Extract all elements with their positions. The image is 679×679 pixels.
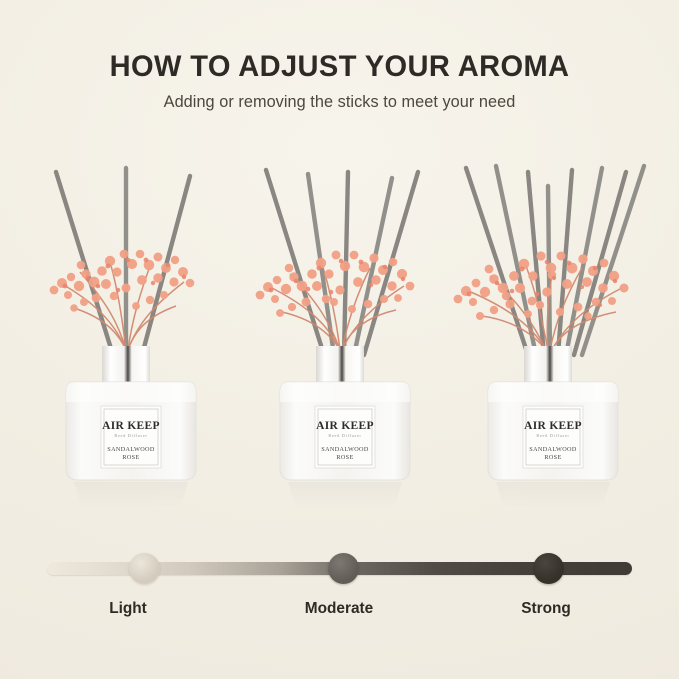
- intensity-slider[interactable]: [47, 557, 632, 579]
- label-scent-line2: ROSE: [122, 454, 139, 461]
- bottle-collar: [524, 346, 572, 384]
- light-diffuser: AIR KEEP Reed Diffuser SANDALWOOD ROSE: [18, 150, 244, 520]
- slider-knob-strong[interactable]: [533, 553, 564, 584]
- slider-knob-moderate[interactable]: [328, 553, 359, 584]
- label-brand: AIR KEEP: [316, 420, 374, 432]
- bottle-reflection: [74, 482, 188, 508]
- slider-label-strong: Strong: [418, 600, 674, 618]
- label-brand-sub: Reed Diffuser: [114, 433, 147, 438]
- bottle-collar: [316, 346, 364, 384]
- label-brand: AIR KEEP: [102, 420, 160, 432]
- dried-flowers: [50, 250, 195, 312]
- label-scent-line1: SANDALWOOD: [321, 446, 369, 453]
- page-title: HOW TO ADJUST YOUR AROMA: [5, 50, 674, 84]
- bottle-reflection: [288, 482, 402, 508]
- label-brand: AIR KEEP: [524, 420, 582, 432]
- infographic-canvas: HOW TO ADJUST YOUR AROMA Adding or remov…: [0, 0, 679, 679]
- label-scent-line2: ROSE: [544, 454, 561, 461]
- label-scent-line1: SANDALWOOD: [529, 446, 577, 453]
- bottle-collar: [102, 346, 150, 384]
- label-brand-sub: Reed Diffuser: [328, 433, 361, 438]
- label-brand-sub: Reed Diffuser: [536, 433, 569, 438]
- diffuser-row: AIR KEEP Reed Diffuser SANDALWOOD ROSE: [0, 150, 679, 520]
- label-scent-line2: ROSE: [336, 454, 353, 461]
- reed-sticks: [466, 166, 644, 355]
- strong-diffuser: AIR KEEP Reed Diffuser SANDALWOOD ROSE: [440, 150, 666, 520]
- dried-flowers: [256, 251, 415, 317]
- bottle-reflection: [496, 482, 610, 508]
- moderate-diffuser: AIR KEEP Reed Diffuser SANDALWOOD ROSE: [232, 150, 458, 520]
- label-scent-line1: SANDALWOOD: [107, 446, 155, 453]
- slider-knob-light[interactable]: [129, 553, 160, 584]
- flower-stems: [62, 262, 184, 350]
- page-subtitle: Adding or removing the sticks to meet yo…: [0, 93, 679, 112]
